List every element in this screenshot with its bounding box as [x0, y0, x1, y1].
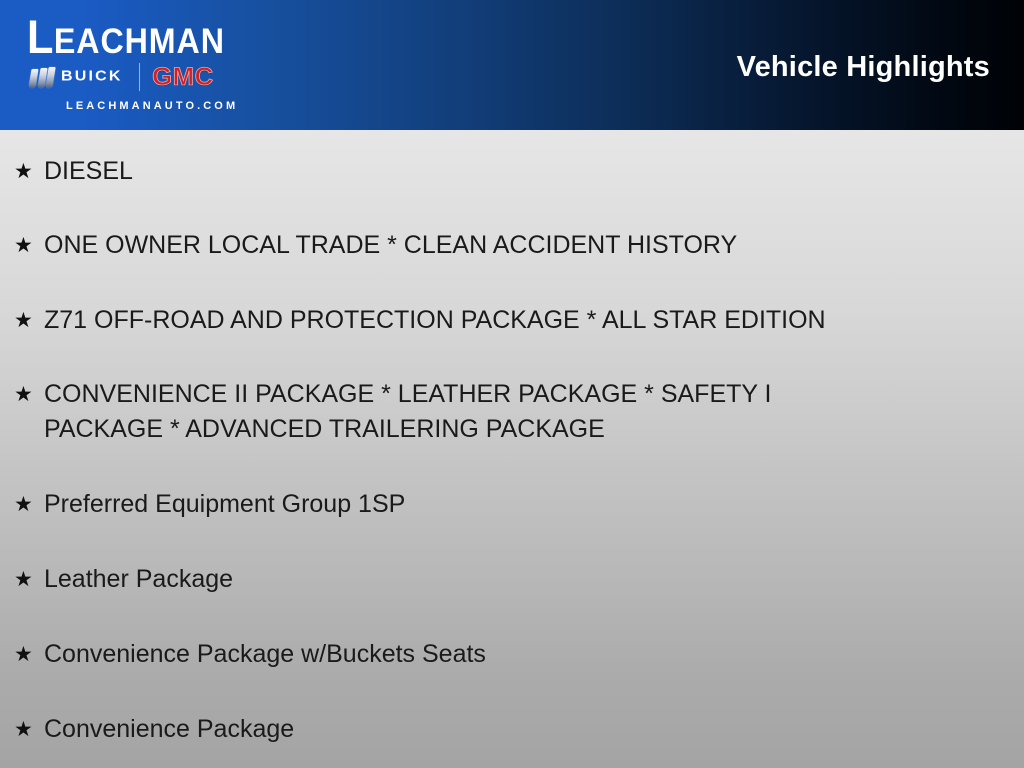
page-title: Vehicle Highlights	[737, 50, 990, 84]
gmc-label: GMC	[152, 65, 214, 90]
list-item: ★ Z71 OFF-ROAD AND PROTECTION PACKAGE * …	[0, 303, 1024, 338]
list-item: ★ Convenience Package	[0, 712, 1024, 747]
star-bullet-icon: ★	[14, 712, 33, 747]
list-item: ★ Convenience Package w/Buckets Seats	[0, 637, 1024, 672]
leachman-wordmark-rest: EACHMAN	[54, 22, 225, 61]
list-item: ★ ONE OWNER LOCAL TRADE * CLEAN ACCIDENT…	[0, 228, 1024, 263]
list-item-label: ONE OWNER LOCAL TRADE * CLEAN ACCIDENT H…	[44, 228, 1004, 263]
header-bar: LEACHMAN BUICK GMC LEACHMANAUTO.COM Vehi…	[0, 0, 1024, 130]
vehicle-highlights-slide: LEACHMAN BUICK GMC LEACHMANAUTO.COM Vehi…	[0, 0, 1024, 768]
list-item-label: Convenience Package w/Buckets Seats	[44, 637, 1004, 672]
star-bullet-icon: ★	[14, 154, 33, 189]
highlights-list: ★ DIESEL ★ ONE OWNER LOCAL TRADE * CLEAN…	[0, 130, 1024, 747]
list-item: ★ CONVENIENCE II PACKAGE * LEATHER PACKA…	[0, 377, 1024, 447]
list-item: ★ DIESEL	[0, 154, 1024, 189]
star-bullet-icon: ★	[14, 487, 33, 522]
brand-row: BUICK GMC	[30, 62, 290, 92]
list-item: ★ Leather Package	[0, 562, 1024, 597]
brand-divider	[139, 63, 140, 91]
star-bullet-icon: ★	[14, 562, 33, 597]
list-item-label: CONVENIENCE II PACKAGE * LEATHER PACKAGE…	[44, 377, 1004, 447]
star-bullet-icon: ★	[14, 303, 33, 338]
list-item: ★ Preferred Equipment Group 1SP	[0, 487, 1024, 522]
dealer-website-url[interactable]: LEACHMANAUTO.COM	[66, 100, 238, 112]
buick-tri-shield-icon	[30, 67, 54, 88]
leachman-wordmark: LEACHMAN	[27, 13, 225, 65]
list-item-label: Preferred Equipment Group 1SP	[44, 487, 1004, 522]
list-item-label: DIESEL	[44, 154, 1004, 189]
star-bullet-icon: ★	[14, 637, 33, 672]
star-bullet-icon: ★	[14, 377, 33, 412]
leachman-wordmark-initial: L	[27, 10, 54, 63]
list-item-label: Z71 OFF-ROAD AND PROTECTION PACKAGE * AL…	[44, 303, 1004, 338]
dealer-logo[interactable]: LEACHMAN BUICK GMC LEACHMANAUTO.COM	[0, 0, 320, 130]
buick-label: BUICK	[61, 70, 123, 85]
list-item-label: Convenience Package	[44, 712, 1004, 747]
list-item-label: Leather Package	[44, 562, 1004, 597]
star-bullet-icon: ★	[14, 228, 33, 263]
